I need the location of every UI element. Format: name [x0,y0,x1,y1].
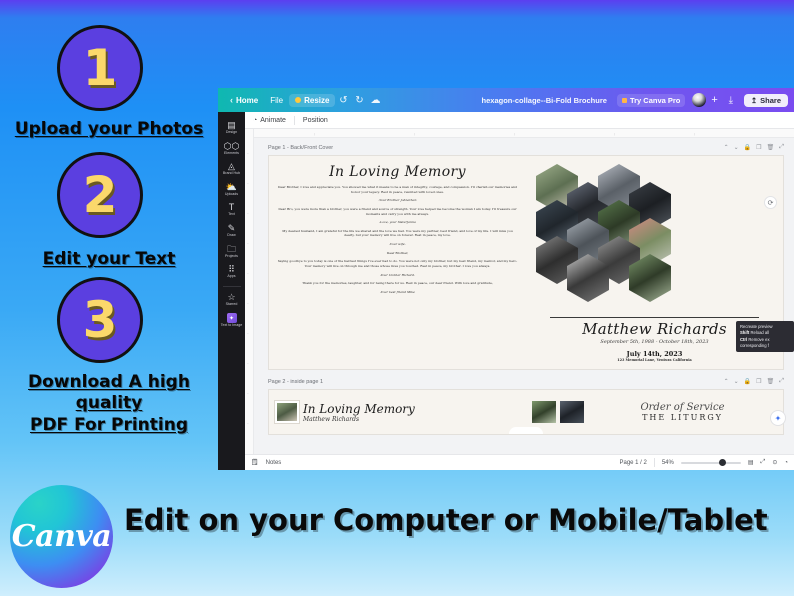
letter-paragraph: Dear Bro, you were more than a brother, … [277,207,518,216]
letter-signature: -Your brother Richard. [277,273,518,278]
sidebar-item-design[interactable]: ▤ Design [218,117,245,138]
page-indicator: Page 1 / 2 [619,460,646,466]
app-body: ▤ Design ⬡⬡ Elements ◬ Brand Hub ⛅ Uploa… [218,112,794,470]
sidebar-label-brand-hub: Brand Hub [223,172,240,176]
resize-button[interactable]: Resize [289,94,335,107]
page2-title: In Loving Memory [303,402,415,416]
help-icon[interactable]: ⊙ [772,459,777,466]
apps-icon: ⠿ [228,265,235,274]
editor-main: ◔ Animate Position – – – – – – – – [245,112,794,470]
context-divider [294,116,295,125]
ruler-tick: – [247,151,249,155]
sidebar-item-draw[interactable]: ✎ Draw [218,220,245,241]
expand-icon[interactable]: ⤢ [779,144,784,151]
tooltip-key-shift: Shift [740,330,749,335]
page2-subtitle: Matthew Richards [303,416,415,423]
letter-paragraph: Saying goodbye to you today is one of th… [277,259,518,268]
brand-hub-icon: ◬ [228,162,235,171]
letter-signature: -Your best friend Mike [277,290,518,295]
animate-button[interactable]: ◔ Animate [253,117,286,124]
timer-icon[interactable]: ◔ [784,460,788,466]
page-collapse-tab[interactable] [509,427,543,434]
letter-signature: -Love, your SisterJenna [277,220,518,225]
sidebar-label-projects: Projects [225,255,238,259]
letter-signature: -Your Brother Johnathan [277,198,518,203]
move-down-icon[interactable]: ⌄ [734,378,739,385]
step-badge-1: 1 [57,25,143,111]
page1-title: In Loving Memory [277,164,518,180]
horizontal-ruler[interactable]: | | | | | [254,129,794,138]
user-avatar[interactable] [692,93,706,107]
page2-right: Order of Service THE LITURGY [526,390,783,434]
star-icon: ☆ [227,293,235,302]
page1-left-panel: In Loving Memory Dear Brother, I love an… [269,156,526,369]
position-button[interactable]: Position [303,117,328,124]
duplicate-icon[interactable]: ❐ [756,144,761,151]
step-badge-3: 3 [57,277,143,363]
move-up-icon[interactable]: ⌃ [724,378,729,385]
sidebar-label-text: Text [228,213,235,217]
text-to-image-icon: ✦ [227,313,237,323]
ruler-tick: – [247,271,249,275]
step-label-2: Edit your Text [0,249,218,270]
page2-left: In Loving Memory Matthew Richards [269,390,526,434]
sidebar-item-text[interactable]: T Text [218,199,245,220]
step-badge-2: 2 [57,152,143,238]
elements-icon: ⬡⬡ [224,142,240,151]
sidebar-divider [223,286,241,287]
left-sidebar: ▤ Design ⬡⬡ Elements ◬ Brand Hub ⛅ Uploa… [218,112,245,470]
page2-header: Page 2 - inside page 1 ⌃ ⌄ 🔒 ❐ 🗑 ⤢ [268,376,784,387]
name-divider [550,317,759,318]
ruler-tick: – [247,241,249,245]
notes-icon: 🗒 [251,459,259,466]
move-up-icon[interactable]: ⌃ [724,144,729,151]
letter-paragraph: My dearest husband, I am grateful for th… [277,229,518,238]
download-icon[interactable]: ⤓ [723,92,739,108]
ruler-tick: – [247,331,249,335]
duplicate-icon[interactable]: ❐ [756,378,761,385]
delete-icon[interactable]: 🗑 [767,378,775,385]
grid-view-icon[interactable]: ▤ [748,459,754,466]
status-divider [654,458,655,467]
vertical-ruler[interactable]: – – – – – – – – – – [245,129,254,454]
page1-canvas[interactable]: In Loving Memory Dear Brother, I love an… [268,155,784,370]
lock-icon[interactable]: 🔒 [744,144,751,151]
magic-dot-icon [295,97,301,103]
letter-paragraph: Thank you for the memories, laughter, an… [277,281,518,286]
ruler-tick: | [314,132,315,136]
sidebar-label-starred: Starred [226,303,238,307]
tooltip-line-2: Reload all [750,330,769,335]
order-of-service-block: Order of Service THE LITURGY [588,402,777,422]
canva-logo-text: Canva [12,519,112,554]
order-of-service-title: Order of Service [588,402,777,413]
ruler-tick: | [614,132,615,136]
lock-icon[interactable]: 🔒 [744,378,751,385]
text-icon: T [229,203,235,212]
page2-portrait-photo [275,401,299,423]
ruler-tick: – [247,421,249,425]
try-pro-label: Try Canva Pro [630,96,680,105]
step-label-1: Upload your Photos [0,119,218,140]
rotate-page-button[interactable]: ⟳ [764,196,777,209]
file-menu[interactable]: File [264,94,289,107]
redo-icon[interactable]: ↻ [351,92,367,108]
projects-icon: 🗀 [227,245,236,254]
letter-signature: -Your wife. [277,242,518,247]
promo-panel: 1 Upload your Photos 2 Edit your Text 3 … [0,0,218,470]
sidebar-item-projects[interactable]: 🗀 Projects [218,241,245,262]
liturgy-label: THE LITURGY [588,413,777,422]
home-label: Home [236,96,258,105]
document-title[interactable]: hexagon-collage--Bi-Fold Brochure [482,96,607,105]
help-fab-button[interactable]: ✦ [770,410,786,426]
animate-icon: ◔ [253,117,257,124]
step-number-2: 2 [83,170,118,220]
step-number-1: 1 [83,43,118,93]
file-label: File [270,96,283,105]
ruler-tick: – [247,391,249,395]
share-button[interactable]: ↥ Share [744,94,788,107]
sidebar-item-apps[interactable]: ⠿ Apps [218,261,245,282]
ruler-tick: | [514,132,515,136]
zoom-level[interactable]: 54% [662,460,674,466]
add-collaborator-button[interactable]: + [711,94,717,106]
page2-label: Page 2 - inside page 1 [268,379,323,385]
pro-badge-icon [622,98,627,103]
status-bar: 🗒 Notes Page 1 / 2 54% ▤ ⤢ ⊙ ◔ [245,454,794,470]
resize-label: Resize [304,96,329,105]
cloud-sync-icon[interactable]: ☁ [367,92,383,108]
letter-paragraph: Dear Brother, I love and appreciate you.… [277,185,518,194]
page2-canvas[interactable]: In Loving Memory Matthew Richards Order … [268,389,784,435]
canvas-region: – – – – – – – – – – | | | | [245,129,794,454]
step-label-3: Download A high quality PDF For Printing [0,372,218,436]
sidebar-item-starred[interactable]: ☆ Starred [218,289,245,310]
step-number-3: 3 [83,295,118,345]
canva-logo: Canva [10,485,113,588]
home-button[interactable]: ‹ Home [224,93,264,107]
ruler-tick: – [247,361,249,365]
hexagon-collage [534,162,775,314]
share-upload-icon: ↥ [751,96,757,105]
service-address: 123 Memorial Lane, Ventura California [534,358,775,362]
sidebar-item-elements[interactable]: ⬡⬡ Elements [218,138,245,159]
canvas-scroll-area[interactable]: Page 1 - Back/Front Cover ⌃ ⌄ 🔒 ❐ 🗑 ⤢ [254,138,794,454]
animate-label: Animate [260,117,286,124]
ruler-tick: – [247,181,249,185]
zoom-slider-knob[interactable] [719,459,726,466]
page2-tools: ⌃ ⌄ 🔒 ❐ 🗑 ⤢ [724,378,784,385]
ruler-tick: – [247,211,249,215]
sidebar-item-brand-hub[interactable]: ◬ Brand Hub [218,158,245,179]
shortcut-tooltip: Recreate preview Shift Reload all Ctrl R… [736,321,794,352]
page2-photo-left [532,401,556,423]
design-icon: ▤ [227,121,236,130]
page1-tools: ⌃ ⌄ 🔒 ❐ 🗑 ⤢ [724,144,784,151]
page1-label: Page 1 - Back/Front Cover [268,145,333,151]
delete-icon[interactable]: 🗑 [767,144,775,151]
sidebar-item-text-to-image[interactable]: ✦ Text to Image [218,309,245,331]
sidebar-label-elements: Elements [224,152,239,156]
canva-app-window: ‹ Home File Resize ↺ ↻ ☁ hexagon-collage… [218,88,794,470]
draw-icon: ✎ [228,224,236,233]
move-down-icon[interactable]: ⌄ [734,144,739,151]
sidebar-label-draw: Draw [227,234,235,238]
sidebar-label-text-to-image: Text to Image [221,324,243,328]
try-canva-pro-button[interactable]: Try Canva Pro [617,94,685,107]
position-label: Position [303,117,328,124]
sidebar-item-uploads[interactable]: ⛅ Uploads [218,179,245,200]
expand-icon[interactable]: ⤢ [779,378,784,385]
back-chevron-icon: ‹ [230,95,233,105]
ruler-tick: – [247,301,249,305]
page2-title-block: In Loving Memory Matthew Richards [303,402,415,423]
page1-header: Page 1 - Back/Front Cover ⌃ ⌄ 🔒 ❐ 🗑 ⤢ [268,142,784,153]
sidebar-label-design: Design [226,131,237,135]
app-topbar: ‹ Home File Resize ↺ ↻ ☁ hexagon-collage… [218,88,794,112]
footer-tagline: Edit on your Computer or Mobile/Tablet [124,503,784,537]
ruler-tick: | [414,132,415,136]
sidebar-label-uploads: Uploads [225,193,238,197]
plus-label: + [711,94,717,106]
tooltip-line-3: Remove ex [748,337,769,342]
sidebar-label-apps: Apps [227,275,235,279]
notes-button[interactable]: Notes [266,460,282,466]
canvas-wrapper: | | | | | Page 1 - Back/Front Cover ⌃ ⌄ [254,129,794,454]
uploads-icon: ⛅ [226,183,237,192]
ruler-tick: | [694,132,695,136]
undo-icon[interactable]: ↺ [335,92,351,108]
tooltip-line-4: corresponding f [740,343,790,349]
zoom-slider[interactable] [681,462,741,464]
letter-greeting: Dear Brother, [277,251,518,256]
share-label: Share [760,96,781,105]
tooltip-key-ctrl: Ctrl [740,337,747,342]
context-toolbar: ◔ Animate Position [245,112,794,129]
fullscreen-icon[interactable]: ⤢ [761,459,766,466]
page2-photo-right [560,401,584,423]
